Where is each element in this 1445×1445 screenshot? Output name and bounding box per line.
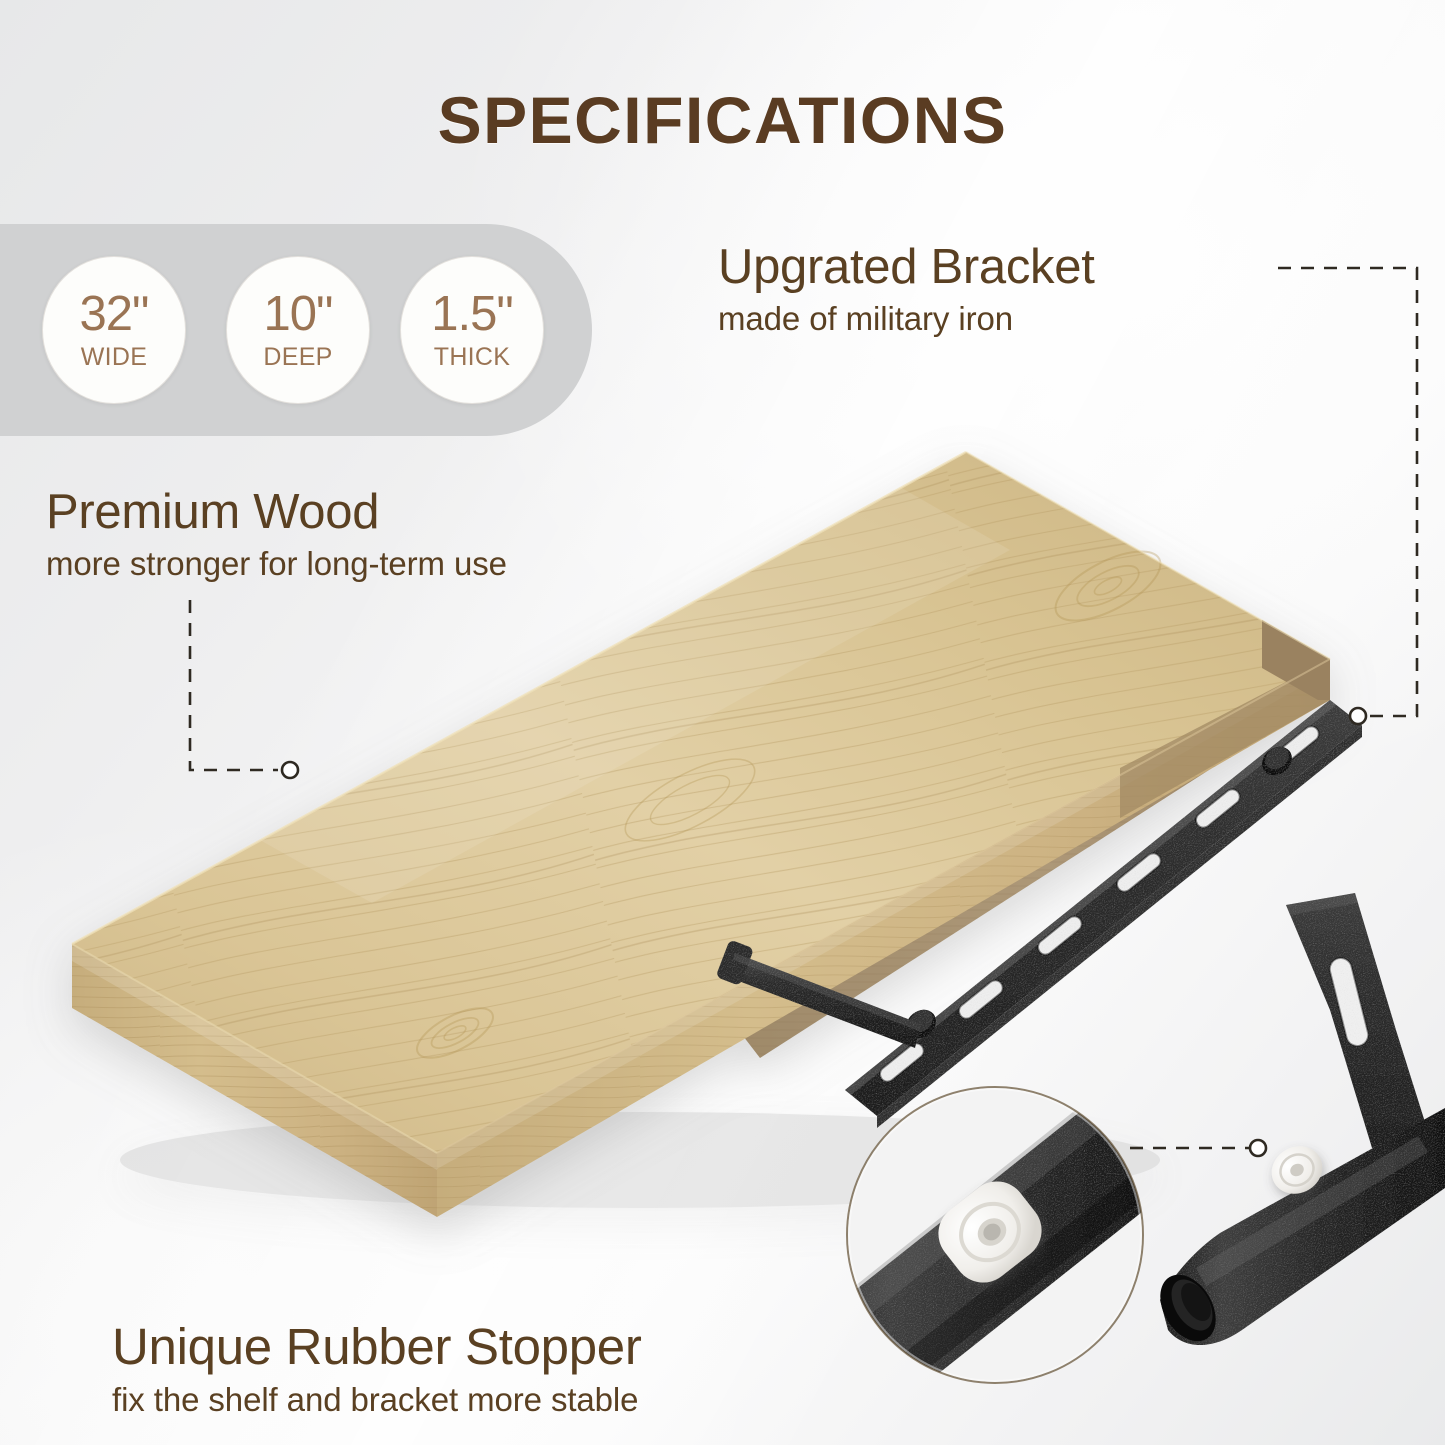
spec-badge-thickness: 1.5" THICK bbox=[400, 256, 544, 404]
infographic-canvas: SPECIFICATIONS 32" WIDE 10" DEEP 1.5" TH… bbox=[0, 0, 1445, 1445]
support-rod-rear bbox=[1100, 697, 1208, 806]
wall-bracket-bar bbox=[845, 700, 1362, 1128]
leader-line-wood bbox=[190, 600, 278, 770]
support-rod-closeup bbox=[1149, 1108, 1445, 1351]
product-illustration bbox=[0, 0, 1445, 1445]
bracket-wall-plate bbox=[1286, 893, 1430, 1148]
leader-dot-wood bbox=[282, 762, 298, 778]
callout-bracket-heading: Upgrated Bracket bbox=[718, 242, 1095, 293]
callout-wood-subtext: more stronger for long-term use bbox=[46, 545, 507, 583]
spec-badge-width-value: 32" bbox=[80, 290, 149, 339]
leader-dot-bracket bbox=[1350, 708, 1366, 724]
callout-stopper-subtext: fix the shelf and bracket more stable bbox=[112, 1381, 642, 1419]
background-sheen bbox=[0, 0, 1445, 1445]
callout-upgraded-bracket: Upgrated Bracket made of military iron bbox=[718, 242, 1095, 338]
callout-stopper-heading: Unique Rubber Stopper bbox=[112, 1320, 642, 1374]
spec-badge-thickness-value: 1.5" bbox=[431, 290, 513, 339]
bracket-bolt-hole bbox=[900, 741, 1297, 1044]
stopper-zoom-circle bbox=[805, 1076, 1195, 1420]
spec-badge-depth-caption: DEEP bbox=[263, 345, 332, 370]
page-title: SPECIFICATIONS bbox=[0, 82, 1445, 158]
spec-badge-depth-value: 10" bbox=[264, 290, 333, 339]
callout-bracket-subtext: made of military iron bbox=[718, 300, 1095, 338]
spec-badge-depth: 10" DEEP bbox=[226, 256, 370, 404]
support-rod-front bbox=[716, 939, 921, 1048]
leader-dot-stopper bbox=[1250, 1140, 1266, 1156]
spec-badge-width-caption: WIDE bbox=[81, 345, 147, 370]
callout-rubber-stopper: Unique Rubber Stopper fix the shelf and … bbox=[112, 1320, 642, 1419]
callout-wood-heading: Premium Wood bbox=[46, 487, 507, 538]
rubber-stopper-front bbox=[1263, 1137, 1331, 1203]
callout-leader-lines bbox=[0, 0, 1445, 1445]
spec-badge-thickness-caption: THICK bbox=[434, 345, 511, 370]
spec-badge-width: 32" WIDE bbox=[42, 256, 186, 404]
callout-premium-wood: Premium Wood more stronger for long-term… bbox=[46, 487, 507, 583]
leader-line-bracket bbox=[1278, 268, 1417, 716]
